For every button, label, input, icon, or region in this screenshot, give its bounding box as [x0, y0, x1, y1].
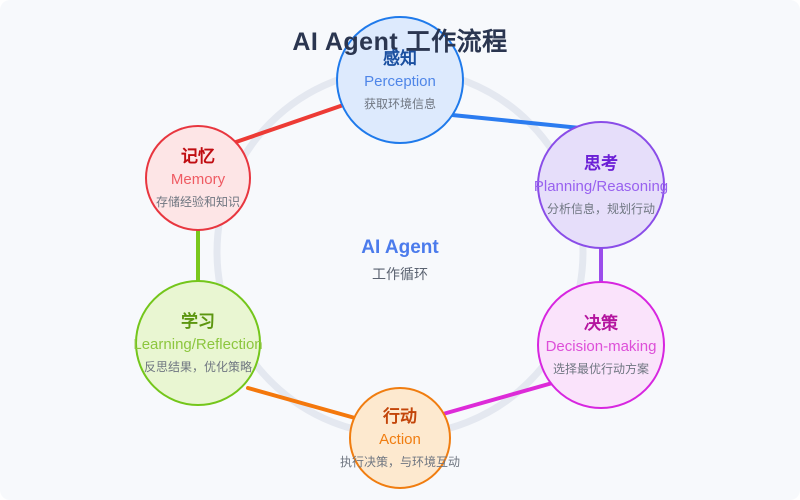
node-description-action: 执行决策，与环境互动 — [340, 453, 460, 471]
diagram-canvas: AI Agent 工作流程 AI Agent 工作循环 感知Perception… — [0, 0, 800, 500]
node-description-planning: 分析信息，规划行动 — [547, 200, 655, 218]
node-description-decision: 选择最优行动方案 — [553, 360, 649, 378]
node-description-memory: 存储经验和知识 — [156, 193, 240, 211]
node-title-action: 行动 — [383, 406, 417, 428]
node-title-learning: 学习 — [181, 311, 215, 333]
node-perception[interactable]: 感知Perception获取环境信息 — [337, 17, 463, 143]
node-subtitle-action: Action — [379, 430, 421, 450]
node-subtitle-decision: Decision-making — [546, 337, 657, 357]
center-label: AI Agent 工作循环 — [300, 236, 500, 285]
node-subtitle-planning: Planning/Reasoning — [534, 177, 668, 197]
connector-memory-to-perception — [236, 101, 355, 142]
node-planning[interactable]: 思考Planning/Reasoning分析信息，规划行动 — [538, 122, 664, 248]
node-learning[interactable]: 学习Learning/Reflection反思结果，优化策略 — [136, 281, 260, 405]
node-subtitle-perception: Perception — [364, 72, 436, 92]
center-main-label: AI Agent — [300, 236, 500, 260]
connector-action-to-learning — [248, 388, 355, 418]
center-sub-label: 工作循环 — [300, 263, 500, 285]
node-title-planning: 思考 — [584, 153, 618, 175]
node-memory[interactable]: 记忆Memory存储经验和知识 — [146, 126, 250, 230]
node-action[interactable]: 行动Action执行决策，与环境互动 — [350, 388, 450, 488]
node-description-learning: 反思结果，优化策略 — [144, 358, 252, 376]
node-subtitle-memory: Memory — [171, 170, 225, 190]
node-title-decision: 决策 — [584, 313, 618, 335]
node-decision[interactable]: 决策Decision-making选择最优行动方案 — [538, 282, 664, 408]
node-title-perception: 感知 — [383, 48, 417, 70]
node-title-memory: 记忆 — [181, 146, 215, 168]
node-subtitle-learning: Learning/Reflection — [133, 335, 262, 355]
node-description-perception: 获取环境信息 — [364, 95, 436, 113]
connector-perception-to-planning — [452, 115, 580, 128]
